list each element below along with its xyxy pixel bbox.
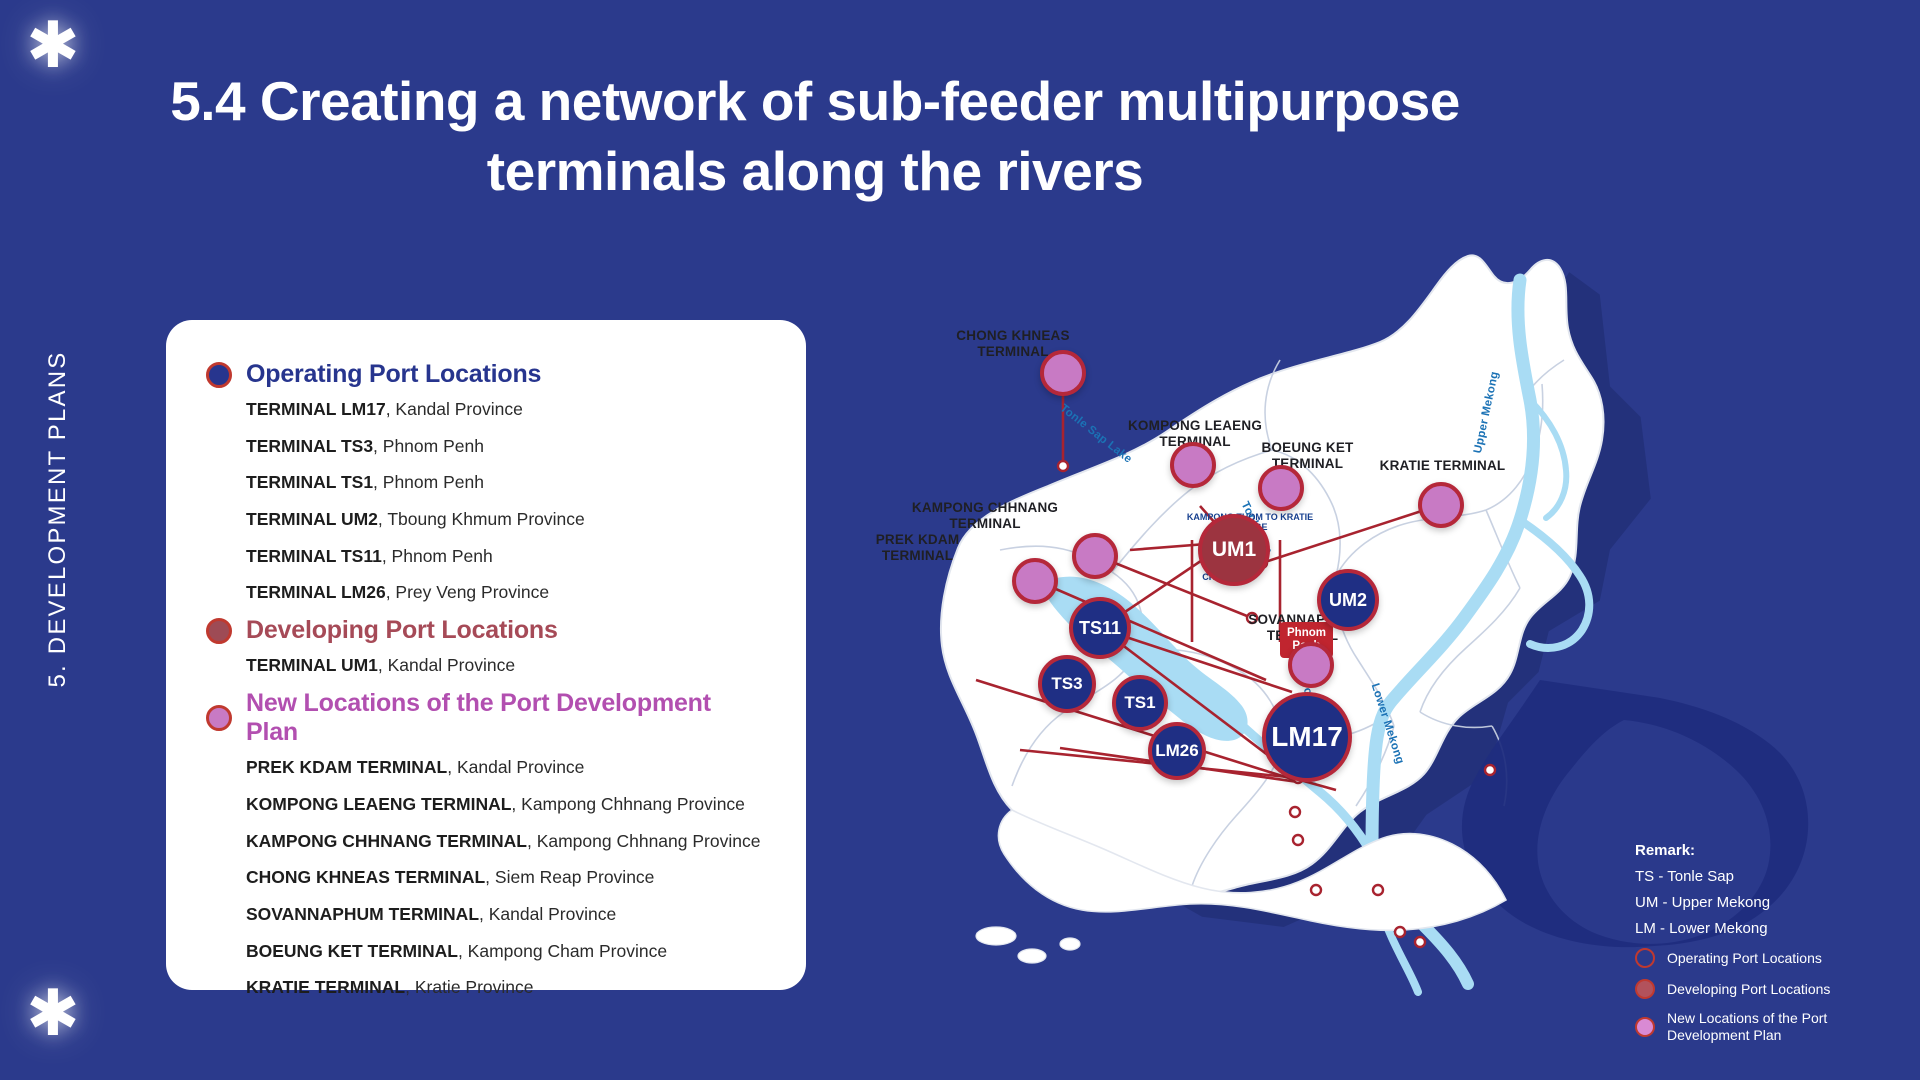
terminal-name: TERMINAL TS1 xyxy=(246,472,373,492)
legend-entry-list: TERMINAL UM1, Kandal Province xyxy=(206,655,768,675)
list-item: TERMINAL TS11, Phnom Penh xyxy=(246,546,768,566)
terminal-name: KRATIE TERMINAL xyxy=(246,977,405,997)
map-marker-um1[interactable]: UM1 xyxy=(1198,514,1270,586)
legend-card: Operating Port Locations TERMINAL LM17, … xyxy=(166,320,806,990)
terminal-name: BOEUNG KET TERMINAL xyxy=(246,941,458,961)
legend-group-new: New Locations of the Port Development Pl… xyxy=(206,689,768,997)
new-dot-icon xyxy=(1635,1017,1655,1037)
terminal-name: TERMINAL TS11 xyxy=(246,546,382,566)
page-title: 5.4 Creating a network of sub-feeder mul… xyxy=(150,66,1480,207)
asterisk-icon-bottom: ✱ xyxy=(26,982,80,1046)
legend-group-title: Operating Port Locations xyxy=(246,360,541,389)
map-marker-lm17[interactable]: LM17 xyxy=(1262,692,1352,782)
list-item: TERMINAL UM2, Tboung Khmum Province xyxy=(246,509,768,529)
legend-group-developing: Developing Port Locations TERMINAL UM1, … xyxy=(206,616,768,675)
legend-group-header: Operating Port Locations xyxy=(206,360,768,389)
list-item: KRATIE TERMINAL, Kratie Province xyxy=(246,977,768,997)
legend-group-header: Developing Port Locations xyxy=(206,616,768,645)
terminal-location: , Phnom Penh xyxy=(373,436,484,456)
developing-dot-icon xyxy=(206,618,232,644)
map-marker-kompong-leaeng[interactable] xyxy=(1170,442,1216,488)
terminal-name: SOVANNAPHUM TERMINAL xyxy=(246,904,479,924)
legend-entry-list: PREK KDAM TERMINAL, Kandal Province KOMP… xyxy=(206,757,768,997)
remark-abbr-ts: TS - Tonle Sap xyxy=(1635,868,1830,885)
list-item: SOVANNAPHUM TERMINAL, Kandal Province xyxy=(246,904,768,924)
terminal-name: KOMPONG LEAENG TERMINAL xyxy=(246,794,511,814)
developing-dot-icon xyxy=(1635,979,1655,999)
slide-root: ✱ ✱ 5. DEVELOPMENT PLANS 5.4 Creating a … xyxy=(0,0,1920,1080)
terminal-name: KAMPONG CHHNANG TERMINAL xyxy=(246,831,527,851)
terminal-location: , Phnom Penh xyxy=(382,546,493,566)
remark-item-label: Developing Port Locations xyxy=(1667,981,1830,998)
list-item: TERMINAL UM1, Kandal Province xyxy=(246,655,768,675)
asterisk-icon-top: ✱ xyxy=(26,14,80,78)
terminal-location: , Siem Reap Province xyxy=(485,867,654,887)
terminal-location: , Kampong Chhnang Province xyxy=(511,794,744,814)
terminal-location: , Tboung Khmum Province xyxy=(378,509,585,529)
map-marker-um2[interactable]: UM2 xyxy=(1317,569,1379,631)
terminal-name: CHONG KHNEAS TERMINAL xyxy=(246,867,485,887)
terminal-name: TERMINAL LM17 xyxy=(246,399,386,419)
terminal-name: TERMINAL UM2 xyxy=(246,509,378,529)
list-item: CHONG KHNEAS TERMINAL, Siem Reap Provinc… xyxy=(246,867,768,887)
terminal-location: , Kandal Province xyxy=(378,655,515,675)
list-item: TERMINAL TS1, Phnom Penh xyxy=(246,472,768,492)
map-marker-lm26[interactable]: LM26 xyxy=(1148,722,1206,780)
legend-group-header: New Locations of the Port Development Pl… xyxy=(206,689,768,747)
remark-title: Remark: xyxy=(1635,842,1830,859)
terminal-location: , Kandal Province xyxy=(447,757,584,777)
terminal-location: , Kampong Cham Province xyxy=(458,941,667,961)
terminal-location: , Kandal Province xyxy=(386,399,523,419)
list-item: BOEUNG KET TERMINAL, Kampong Cham Provin… xyxy=(246,941,768,961)
terminal-name: TERMINAL LM26 xyxy=(246,582,386,602)
terminal-location: , Phnom Penh xyxy=(373,472,484,492)
section-label: 5. DEVELOPMENT PLANS xyxy=(44,309,72,729)
terminal-location: , Kratie Province xyxy=(405,977,533,997)
map-marker-kampong-chhnang[interactable] xyxy=(1072,533,1118,579)
list-item: PREK KDAM TERMINAL, Kandal Province xyxy=(246,757,768,777)
remark-abbr-lm: LM - Lower Mekong xyxy=(1635,920,1830,937)
remark-abbr-um: UM - Upper Mekong xyxy=(1635,894,1830,911)
new-dot-icon xyxy=(206,705,232,731)
remark-item-operating: Operating Port Locations xyxy=(1635,948,1830,968)
operating-dot-icon xyxy=(1635,948,1655,968)
terminal-name: TERMINAL TS3 xyxy=(246,436,373,456)
list-item: TERMINAL TS3, Phnom Penh xyxy=(246,436,768,456)
terminal-location: , Kandal Province xyxy=(479,904,616,924)
map-marker-sovannaphum[interactable] xyxy=(1288,642,1334,688)
legend-group-title: Developing Port Locations xyxy=(246,616,558,645)
map-marker-ts11[interactable]: TS11 xyxy=(1069,597,1131,659)
map-marker-ts3[interactable]: TS3 xyxy=(1038,655,1096,713)
remark-item-developing: Developing Port Locations xyxy=(1635,979,1830,999)
list-item: KAMPONG CHHNANG TERMINAL, Kampong Chhnan… xyxy=(246,831,768,851)
operating-dot-icon xyxy=(206,362,232,388)
map-marker-kratie[interactable] xyxy=(1418,482,1464,528)
map-marker-ts1[interactable]: TS1 xyxy=(1112,675,1168,731)
terminal-location: , Kampong Chhnang Province xyxy=(527,831,760,851)
legend-group-title: New Locations of the Port Development Pl… xyxy=(246,689,768,747)
terminal-name: TERMINAL UM1 xyxy=(246,655,378,675)
remark-legend: Remark: TS - Tonle Sap UM - Upper Mekong… xyxy=(1635,842,1830,1043)
remark-item-label: Operating Port Locations xyxy=(1667,950,1822,967)
legend-group-operating: Operating Port Locations TERMINAL LM17, … xyxy=(206,360,768,602)
map-marker-boeung-ket[interactable] xyxy=(1258,465,1304,511)
map-marker-prek-kdam[interactable] xyxy=(1012,558,1058,604)
terminal-location: , Prey Veng Province xyxy=(386,582,549,602)
list-item: TERMINAL LM26, Prey Veng Province xyxy=(246,582,768,602)
list-item: TERMINAL LM17, Kandal Province xyxy=(246,399,768,419)
terminal-name: PREK KDAM TERMINAL xyxy=(246,757,447,777)
remark-item-label: New Locations of the Port Development Pl… xyxy=(1667,1010,1827,1043)
map-marker-chong-khneas[interactable] xyxy=(1040,350,1086,396)
remark-item-new: New Locations of the Port Development Pl… xyxy=(1635,1010,1830,1043)
list-item: KOMPONG LEAENG TERMINAL, Kampong Chhnang… xyxy=(246,794,768,814)
legend-entry-list: TERMINAL LM17, Kandal Province TERMINAL … xyxy=(206,399,768,602)
